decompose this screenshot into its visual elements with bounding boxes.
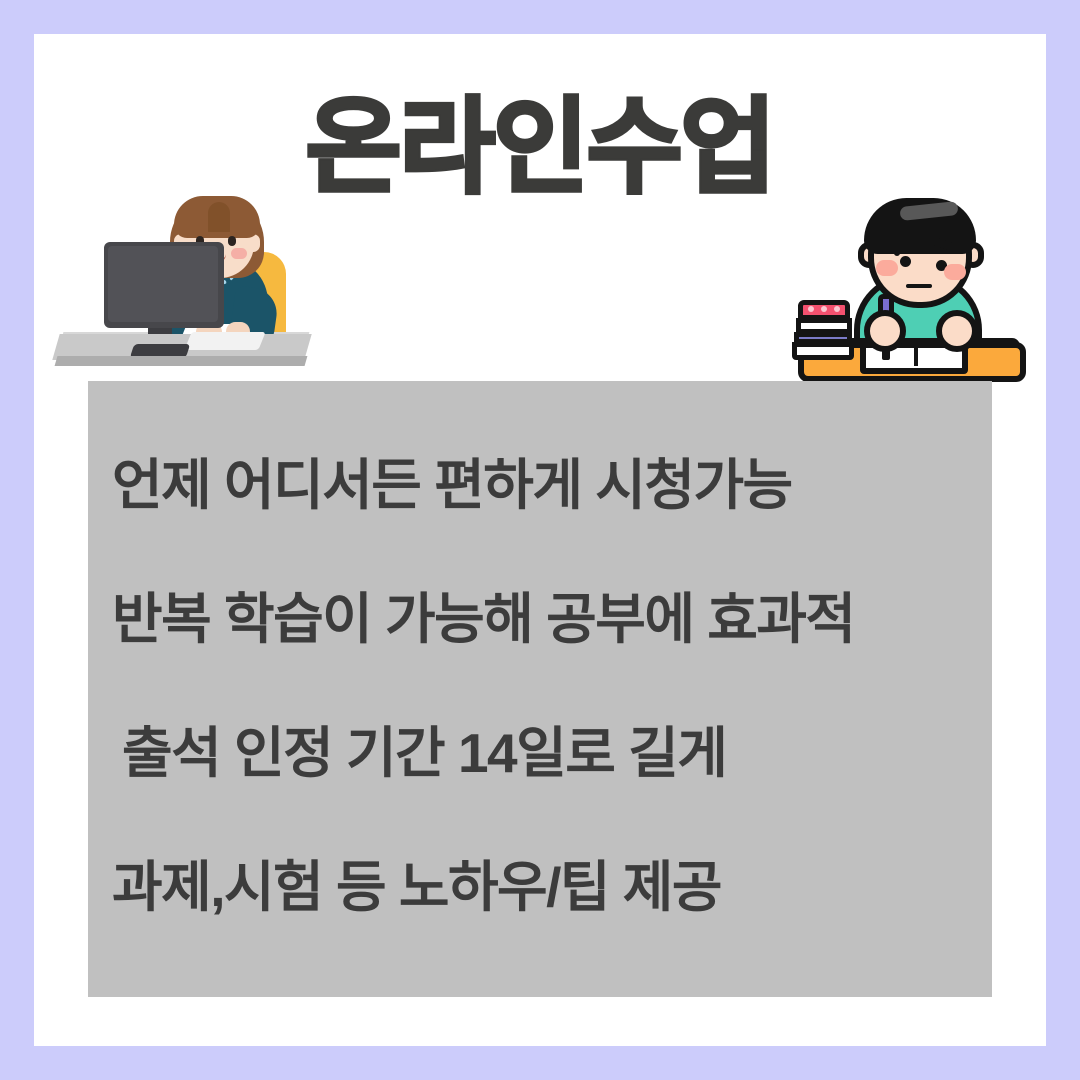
notebook-writing-mark <box>914 348 918 366</box>
poster-card: 온라인수업 <box>34 34 1046 1046</box>
book-cover-dot <box>808 306 814 312</box>
monitor-screen-inner-shape <box>108 246 218 322</box>
woman-cheek-right-shape <box>231 248 247 259</box>
feature-line-1: 언제 어디서든 편하게 시청가능 <box>102 418 978 552</box>
woman-hair-part-shape <box>208 202 230 232</box>
feature-line-4: 과제,시험 등 노하우/팁 제공 <box>102 820 978 954</box>
boy-mouth-shape <box>906 284 932 288</box>
book-stack-bottom-pages <box>792 342 854 360</box>
features-panel: 언제 어디서든 편하게 시청가능 반복 학습이 가능해 공부에 효과적 출석 인… <box>88 381 992 997</box>
book-cover-dots <box>808 306 840 312</box>
desk-front-edge-shape <box>55 356 308 366</box>
boy-studying-illustration <box>790 198 1030 394</box>
boy-cheek-left-shape <box>876 260 898 276</box>
boy-eye-left-shape <box>900 256 911 267</box>
poster-canvas: 온라인수업 <box>0 0 1080 1080</box>
keyboard-shape <box>184 332 265 350</box>
book-cover-dot <box>821 306 827 312</box>
boy-eyebrow-left-shape <box>894 242 900 256</box>
boy-hand-left-shape <box>864 310 906 352</box>
woman-eye-right-shape <box>228 236 236 246</box>
features-list: 언제 어디서든 편하게 시청가능 반복 학습이 가능해 공부에 효과적 출석 인… <box>88 381 992 997</box>
woman-at-computer-illustration <box>56 196 318 386</box>
page-title: 온라인수업 <box>34 96 1046 200</box>
feature-line-3: 출석 인정 기간 14일로 길게 <box>102 686 978 820</box>
book-cover-dot <box>834 306 840 312</box>
boy-cheek-right-shape <box>944 264 966 280</box>
feature-line-2: 반복 학습이 가능해 공부에 효과적 <box>102 552 978 686</box>
book-stack-middle-pages <box>796 318 852 334</box>
boy-hand-right-shape <box>936 310 978 352</box>
